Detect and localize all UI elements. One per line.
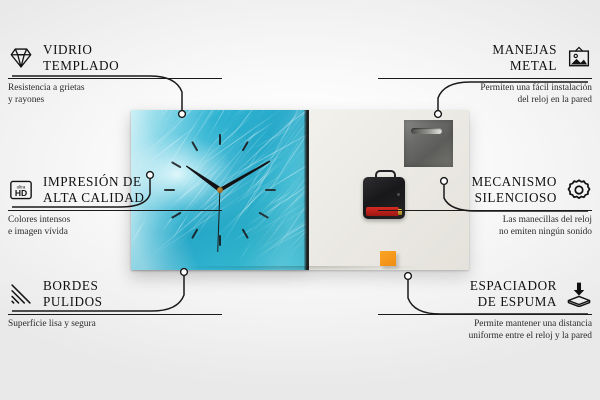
callout-subtitle: Permite mantener una distancia uniforme … xyxy=(378,319,592,342)
callout-header: BORDES PULIDOS xyxy=(8,278,222,309)
callout-manejas-metal: MANEJAS METAL Permiten una fácil instala… xyxy=(378,42,592,106)
callout-title: IMPRESIÓN DE ALTA CALIDAD xyxy=(43,174,144,205)
callout-rule xyxy=(378,78,592,79)
diamond-icon xyxy=(8,45,34,71)
callout-title: BORDES PULIDOS xyxy=(43,278,103,309)
callout-subtitle: Resistencia a grietas y rayones xyxy=(8,83,222,106)
polished-edge-icon xyxy=(8,281,34,307)
callout-header: VIDRIO TEMPLADO xyxy=(8,42,222,73)
callout-subtitle: Colores intensos e imagen vívida xyxy=(8,215,222,238)
callout-header: MECANISMO SILENCIOSO xyxy=(378,174,592,205)
callout-title: ESPACIADOR DE ESPUMA xyxy=(470,278,557,309)
callout-rule xyxy=(8,78,222,79)
callout-rule xyxy=(378,314,592,315)
callout-title: VIDRIO TEMPLADO xyxy=(43,42,119,73)
callout-rule xyxy=(8,314,222,315)
infographic-stage: VIDRIO TEMPLADO Resistencia a grietas y … xyxy=(0,0,600,400)
callout-subtitle: Permiten una fácil instalación del reloj… xyxy=(378,83,592,106)
callout-bordes-pulidos: BORDES PULIDOS Superficie lisa y segura xyxy=(8,278,222,331)
callout-vidrio-templado: VIDRIO TEMPLADO Resistencia a grietas y … xyxy=(8,42,222,106)
callout-mecanismo-silencioso: MECANISMO SILENCIOSO Las manecillas del … xyxy=(378,174,592,238)
callout-title: MECANISMO SILENCIOSO xyxy=(471,174,557,205)
svg-text:HD: HD xyxy=(15,188,27,198)
callout-header: MANEJAS METAL xyxy=(378,42,592,73)
foam-spacer-part xyxy=(380,251,396,266)
callout-rule xyxy=(378,210,592,211)
gear-icon xyxy=(566,177,592,203)
callout-subtitle: Las manecillas del reloj no emiten ningú… xyxy=(378,215,592,238)
picture-hanger-icon xyxy=(566,45,592,71)
callout-impresion-alta-calidad: ultra HD IMPRESIÓN DE ALTA CALIDAD Color… xyxy=(8,174,222,238)
callout-rule xyxy=(8,210,222,211)
ultra-hd-badge-icon: ultra HD xyxy=(8,177,34,203)
hanger-slot xyxy=(411,128,442,134)
callout-espaciador-espuma: ESPACIADOR DE ESPUMA Permite mantener un… xyxy=(378,278,592,342)
callout-title: MANEJAS METAL xyxy=(492,42,557,73)
callout-header: ESPACIADOR DE ESPUMA xyxy=(378,278,592,309)
metal-hanger-part xyxy=(404,120,453,167)
callout-header: ultra HD IMPRESIÓN DE ALTA CALIDAD xyxy=(8,174,222,205)
callout-subtitle: Superficie lisa y segura xyxy=(8,319,222,331)
press-down-layers-icon xyxy=(566,281,592,307)
